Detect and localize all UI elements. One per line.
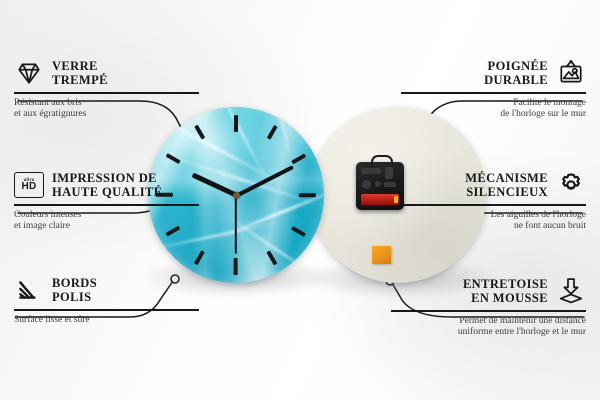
ultra-hd-icon: ultra HD — [14, 170, 44, 200]
feature-desc-line2: et aux égratignures — [14, 109, 86, 119]
feature-title-line2: TREMPÉ — [52, 73, 108, 87]
clock-tick — [291, 153, 306, 164]
feature-desc-line1: Surface lisse et sûre — [14, 315, 90, 325]
feature-poignee-durable: POIGNÉE DURABLE Facilite le montage de l… — [401, 58, 586, 121]
picture-frame-icon — [556, 58, 586, 88]
feature-desc-line2: uniforme entre l'horloge et le mur — [458, 327, 586, 337]
feature-title-line1: MÉCANISME — [465, 171, 548, 185]
feature-title-line2: HAUTE QUALITÉ — [52, 185, 162, 199]
feature-mecanisme-silencieux: MÉCANISME SILENCIEUX Les aiguilles de l'… — [401, 170, 586, 233]
feature-desc-line2: de l'horloge sur le mur — [500, 109, 586, 119]
divider — [14, 204, 199, 206]
clock-center-cap — [233, 192, 240, 199]
clock-second-hand — [235, 195, 237, 253]
battery — [361, 194, 399, 205]
feature-entretoise-en-mousse: ENTRETOISE EN MOUSSE Permet de maintenir… — [391, 276, 586, 339]
feature-verre-trempe: VERRE TREMPÉ Résistant aux bris et aux é… — [14, 58, 199, 121]
divider — [401, 92, 586, 94]
battery-terminal — [394, 196, 398, 203]
feature-desc-line2: ne font aucun bruit — [514, 221, 586, 231]
clock-tick — [291, 226, 306, 237]
feature-title-line2: POLIS — [52, 290, 92, 304]
clock-tick — [299, 193, 316, 197]
feature-desc-line1: Facilite le montage — [513, 98, 586, 108]
feature-title-line2: EN MOUSSE — [471, 291, 548, 305]
feature-title-line1: IMPRESSION DE — [52, 171, 157, 185]
foam-spacer-icon — [556, 276, 586, 306]
feature-title-line2: DURABLE — [484, 73, 548, 87]
clock-tick — [234, 258, 238, 275]
feature-desc-line1: Permet de maintenir une distance — [459, 316, 586, 326]
clock-tick — [234, 115, 238, 132]
feature-bords-polis: BORDS POLIS Surface lisse et sûre — [14, 275, 199, 326]
feature-title-line1: BORDS — [52, 276, 97, 290]
divider — [391, 310, 586, 312]
clock-mechanism — [356, 162, 404, 210]
gear-icon — [556, 170, 586, 200]
feature-title-line1: ENTRETOISE — [463, 277, 548, 291]
clock-tick — [267, 125, 278, 140]
diamond-icon — [14, 58, 44, 88]
infographic-canvas: VERRE TREMPÉ Résistant aux bris et aux é… — [0, 0, 600, 400]
feature-title-line1: VERRE — [52, 59, 98, 73]
feature-desc-line1: Les aiguilles de l'horloge — [491, 210, 586, 220]
clock-tick — [267, 250, 278, 265]
foam-spacer — [372, 246, 391, 264]
divider — [14, 92, 199, 94]
divider — [401, 204, 586, 206]
polished-edges-icon — [14, 275, 44, 305]
feature-desc-line1: Couleurs intenses — [14, 210, 81, 220]
divider — [14, 309, 199, 311]
feature-title-line2: SILENCIEUX — [466, 185, 548, 199]
feature-desc-line1: Résistant aux bris — [14, 98, 82, 108]
feature-desc-line2: et image claire — [14, 221, 70, 231]
feature-title-line1: POIGNÉE — [488, 59, 548, 73]
feature-impression-haute-qualite: ultra HD IMPRESSION DE HAUTE QUALITÉ Cou… — [14, 170, 199, 233]
